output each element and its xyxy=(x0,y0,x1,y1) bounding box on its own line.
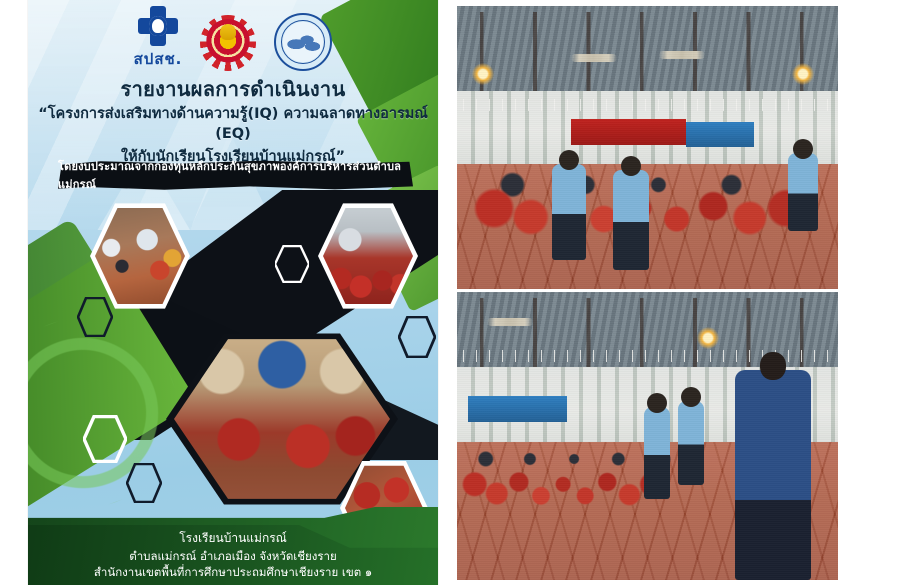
nhso-logo: สปสช. xyxy=(134,6,183,71)
hall-lamp-right xyxy=(792,63,814,85)
decorative-hexagon-outline-center xyxy=(275,245,309,283)
ministry-emblem-icon xyxy=(200,15,256,71)
hall-truss xyxy=(457,12,838,97)
hall-lamp-center xyxy=(697,327,719,349)
page-root: สปสช. รายงานผลการดำเนินงาน “โครงการส่งเส… xyxy=(0,0,900,585)
ceiling-fan-left xyxy=(571,54,617,62)
photo-school-hall-exercise xyxy=(457,6,838,289)
adult-staff-right xyxy=(788,153,818,231)
cover-footer-text: โรงเรียนบ้านแม่กรณ์ ตำบลแม่กรณ์ อำเภอเมื… xyxy=(28,530,438,581)
decorative-hexagon-outline-right xyxy=(398,316,436,358)
report-cover: สปสช. รายงานผลการดำเนินงาน “โครงการส่งเส… xyxy=(28,0,438,585)
footer-school-name: โรงเรียนบ้านแม่กรณ์ xyxy=(28,530,438,547)
adult-standing-left xyxy=(644,407,670,499)
hall-scene-top xyxy=(457,6,838,289)
hall-scene-bottom xyxy=(457,292,838,580)
provincial-seal-icon xyxy=(274,13,332,71)
decorative-hexagon-outline-left xyxy=(77,297,113,337)
nhso-logo-caption: สปสช. xyxy=(134,47,183,71)
provincial-seal-logo xyxy=(274,13,332,71)
funding-banner-text: โดยงบประมาณจากกองทุนหลักประกันสุขภาพองค์… xyxy=(58,160,413,190)
footer-address: ตำบลแม่กรณ์ อำเภอเมือง จังหวัดเชียงราย xyxy=(28,548,438,565)
adult-instructor-blue-shirt xyxy=(552,164,586,260)
adult-instructor-blue-shirt-2 xyxy=(613,170,649,270)
hall-red-backdrop xyxy=(571,119,685,144)
cover-title-sub-line1: “โครงการส่งเสริมทางด้านความรู้(IQ) ความฉ… xyxy=(28,105,438,144)
hall-lamp-left xyxy=(472,63,494,85)
logo-row: สปสช. xyxy=(28,6,438,71)
teacher-foreground-navy-shirt xyxy=(735,370,811,580)
cover-funding-banner: โดยงบประมาณจากกองทุนหลักประกันสุขภาพองค์… xyxy=(58,160,413,190)
ceiling-fan-right xyxy=(659,51,705,59)
adult-standing-center xyxy=(678,401,704,485)
nhso-cross-icon xyxy=(138,6,178,46)
ceiling-fan-bottom-left xyxy=(487,318,533,326)
photo-teacher-with-microphone xyxy=(457,292,838,580)
decorative-hexagon-outline-white xyxy=(83,415,127,463)
hall-bunting xyxy=(457,99,838,111)
decorative-hexagon-outline-dark xyxy=(126,463,162,503)
cover-title-main: รายงานผลการดำเนินงาน xyxy=(28,78,438,101)
footer-education-office: สำนักงานเขตพื้นที่การศึกษาประถมศึกษาเชีย… xyxy=(28,564,438,581)
ministry-emblem-logo xyxy=(200,15,256,71)
cover-title-block: รายงานผลการดำเนินงาน “โครงการส่งเสริมทาง… xyxy=(28,78,438,168)
